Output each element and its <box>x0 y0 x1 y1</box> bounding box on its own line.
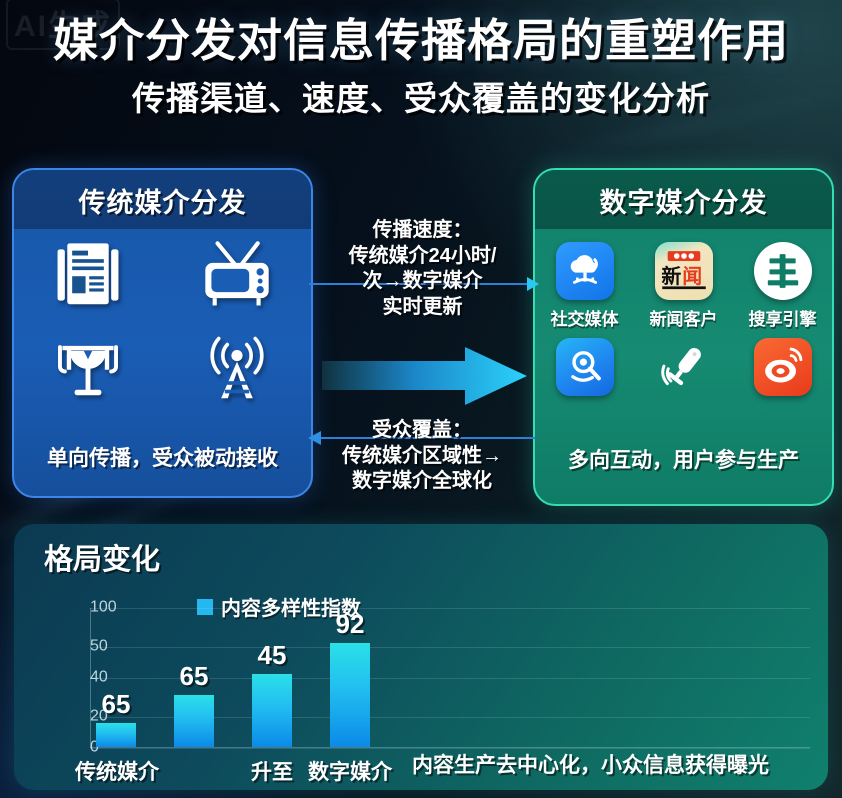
digital-icon-label: 搜享引擎 <box>737 305 829 330</box>
social-media-app-icon[interactable] <box>556 242 614 300</box>
structure-change-chart-panel: 格局变化 内容多样性指数 100504020065654592传统媒介升至数字媒… <box>14 524 828 790</box>
chart-gridline <box>90 647 810 648</box>
news-app-icon[interactable]: 新 闻 <box>655 242 713 300</box>
digital-icon-cell[interactable] <box>539 338 631 401</box>
speed-comparison-label: 传播速度： 传统媒介24小时/ 次→数字媒介 实时更新 <box>315 218 530 320</box>
television-icon <box>198 236 276 314</box>
page-subtitle: 传播渠道、速度、受众覆盖的变化分析 <box>0 72 842 120</box>
traditional-panel-footer: 单向传播，受众被动接收 <box>14 442 311 472</box>
brand-glyph-icon <box>756 244 810 298</box>
microphone-icon[interactable] <box>655 338 713 396</box>
chart-gridline <box>90 608 810 609</box>
reach-line: 数字媒介全球化 <box>313 469 531 495</box>
weibo-eye-icon <box>757 341 809 393</box>
chart-bar <box>174 695 214 747</box>
speed-line: 传播速度： <box>315 218 530 244</box>
magnifier-icon <box>559 341 611 393</box>
chart-plot-area: 100504020065654592传统媒介升至数字媒介 <box>80 608 810 748</box>
chart-bar-value-label: 65 <box>102 689 131 720</box>
svg-text:新: 新 <box>661 264 681 288</box>
digital-icon-cell[interactable] <box>638 338 730 401</box>
broadcast-tower-icon <box>198 330 276 408</box>
cloud-tree-icon <box>559 245 611 297</box>
microphone-glyph-icon <box>656 339 712 395</box>
chart-bar-value-label: 45 <box>258 640 287 671</box>
chart-panel-title: 格局变化 <box>44 536 160 578</box>
reach-line: 受众覆盖： <box>313 418 531 444</box>
weibo-app-icon[interactable] <box>754 338 812 396</box>
infographic-canvas: AI生成 媒介分发对信息传播格局的重塑作用 传播渠道、速度、受众覆盖的变化分析 … <box>0 0 842 798</box>
digital-media-panel: 数字媒介分发 社交媒体 <box>533 168 834 506</box>
traditional-media-panel: 传统媒介分发 <box>12 168 313 498</box>
chart-x-tick-label: 传统媒介 <box>75 756 159 786</box>
chart-bar <box>252 674 292 747</box>
digital-icon-cell[interactable]: 新 闻 新闻客户 <box>638 242 730 330</box>
satellite-dish-icon <box>49 330 127 408</box>
digital-icon-cell[interactable] <box>737 338 829 401</box>
page-title: 媒介分发对信息传播格局的重塑作用 <box>0 4 842 69</box>
reach-comparison-label: 受众覆盖： 传统媒介区域性→ 数字媒介全球化 <box>313 418 531 495</box>
speed-line: 传统媒介24小时/ <box>315 244 530 270</box>
search-engine-app-icon[interactable] <box>754 242 812 300</box>
svg-text:闻: 闻 <box>682 265 702 288</box>
magnifier-app-icon[interactable] <box>556 338 614 396</box>
digital-icon-cell[interactable]: 搜享引擎 <box>737 242 829 330</box>
digital-panel-heading: 数字媒介分发 <box>535 170 832 229</box>
chart-caption: 内容生产去中心化，小众信息获得曝光 <box>412 749 769 779</box>
news-glyph-icon: 新 闻 <box>655 242 713 300</box>
reach-line: 传统媒介区域性→ <box>313 444 531 470</box>
chart-bar <box>330 643 370 747</box>
chart-bar-value-label: 65 <box>180 661 209 692</box>
newspaper-icon <box>49 236 127 314</box>
digital-icon-cell[interactable]: 社交媒体 <box>539 242 631 330</box>
chart-bar <box>96 723 136 747</box>
chart-x-tick-label: 数字媒介 <box>308 756 392 786</box>
traditional-panel-heading: 传统媒介分发 <box>14 170 311 229</box>
digital-icon-label: 社交媒体 <box>539 305 631 330</box>
digital-icon-label: 新闻客户 <box>638 305 730 330</box>
digital-panel-footer: 多向互动，用户参与生产 <box>535 444 832 474</box>
digital-icon-grid: 社交媒体 新 闻 新闻客户 <box>535 242 832 401</box>
transformation-arrow-icon <box>322 345 527 407</box>
chart-bar-value-label: 92 <box>336 609 365 640</box>
speed-line: 次→数字媒介 <box>315 269 530 295</box>
chart-x-tick-label: 升至 <box>251 756 293 786</box>
traditional-icon-grid <box>14 236 311 408</box>
speed-line: 实时更新 <box>315 295 530 321</box>
